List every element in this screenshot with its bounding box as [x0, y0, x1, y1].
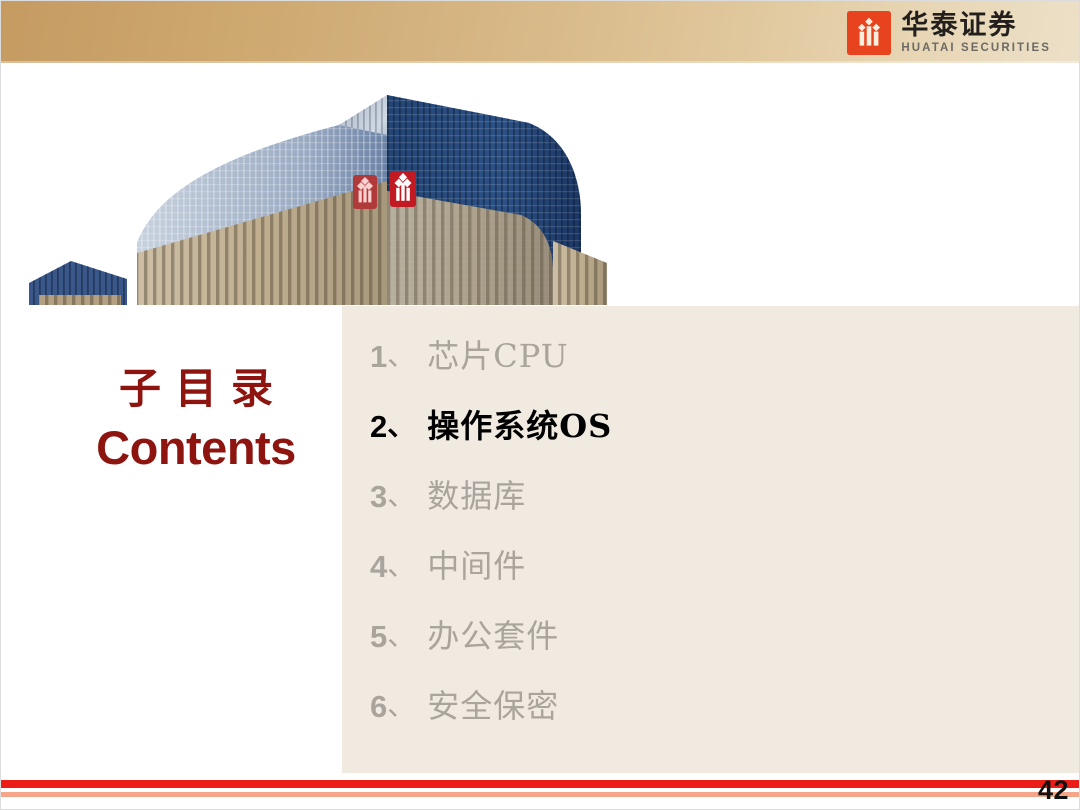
- toc-item-4-separator: 、: [387, 552, 415, 580]
- toc-item-2-number: 2: [370, 411, 387, 442]
- company-name-en: HUATAI SECURITIES: [901, 43, 1051, 55]
- toc-item-1-separator: 、: [387, 342, 415, 370]
- toc-item-3-number: 3: [370, 481, 387, 512]
- toc-item-5-separator: 、: [387, 622, 415, 650]
- company-name-cn: 华泰证券: [901, 12, 1051, 39]
- toc-item-5-number: 5: [370, 621, 387, 652]
- toc-item-5[interactable]: 5 、 办公套件: [370, 601, 1010, 671]
- toc-item-2-separator: 、: [387, 412, 415, 440]
- toc-item-4-number: 4: [370, 551, 387, 582]
- toc-item-6[interactable]: 6 、 安全保密: [370, 671, 1010, 741]
- page-number: 42: [1038, 775, 1069, 806]
- toc-item-2-label: 操作系统OS: [427, 410, 612, 442]
- toc-item-5-label: 办公套件: [427, 620, 559, 652]
- toc-item-2[interactable]: 2 、 操作系统OS: [370, 391, 1010, 461]
- footer-red-stripe: [1, 780, 1080, 788]
- page-title-cn: 子目录: [61, 365, 331, 413]
- footer-salmon-stripe: [1, 792, 1080, 797]
- toc-item-6-label: 安全保密: [427, 690, 559, 722]
- presentation-slide: 华泰证券 HUATAI SECURITIES: [0, 0, 1080, 810]
- toc-item-1-label: 芯片CPU: [427, 340, 568, 372]
- toc-item-1[interactable]: 1 、 芯片CPU: [370, 321, 1010, 391]
- toc-item-1-number: 1: [370, 341, 387, 372]
- toc-item-3-label: 数据库: [427, 480, 526, 512]
- company-logo-text: 华泰证券 HUATAI SECURITIES: [901, 12, 1051, 55]
- toc-item-6-separator: 、: [387, 692, 415, 720]
- company-logo: 华泰证券 HUATAI SECURITIES: [847, 10, 1051, 56]
- toc-item-3-separator: 、: [387, 482, 415, 510]
- toc-item-3[interactable]: 3 、 数据库: [370, 461, 1010, 531]
- page-title-en: Contents: [61, 419, 331, 478]
- toc-item-6-number: 6: [370, 691, 387, 722]
- huatai-diamond-pillars-logo-icon: [847, 11, 891, 55]
- page-title: 子目录 Contents: [61, 365, 331, 478]
- huatai-headquarters-building-photo: [9, 65, 629, 305]
- toc-item-4[interactable]: 4 、 中间件: [370, 531, 1010, 601]
- table-of-contents: 1 、 芯片CPU 2 、 操作系统OS 3 、 数据库 4 、 中间件 5 、…: [370, 321, 1010, 741]
- toc-item-4-label: 中间件: [427, 550, 526, 582]
